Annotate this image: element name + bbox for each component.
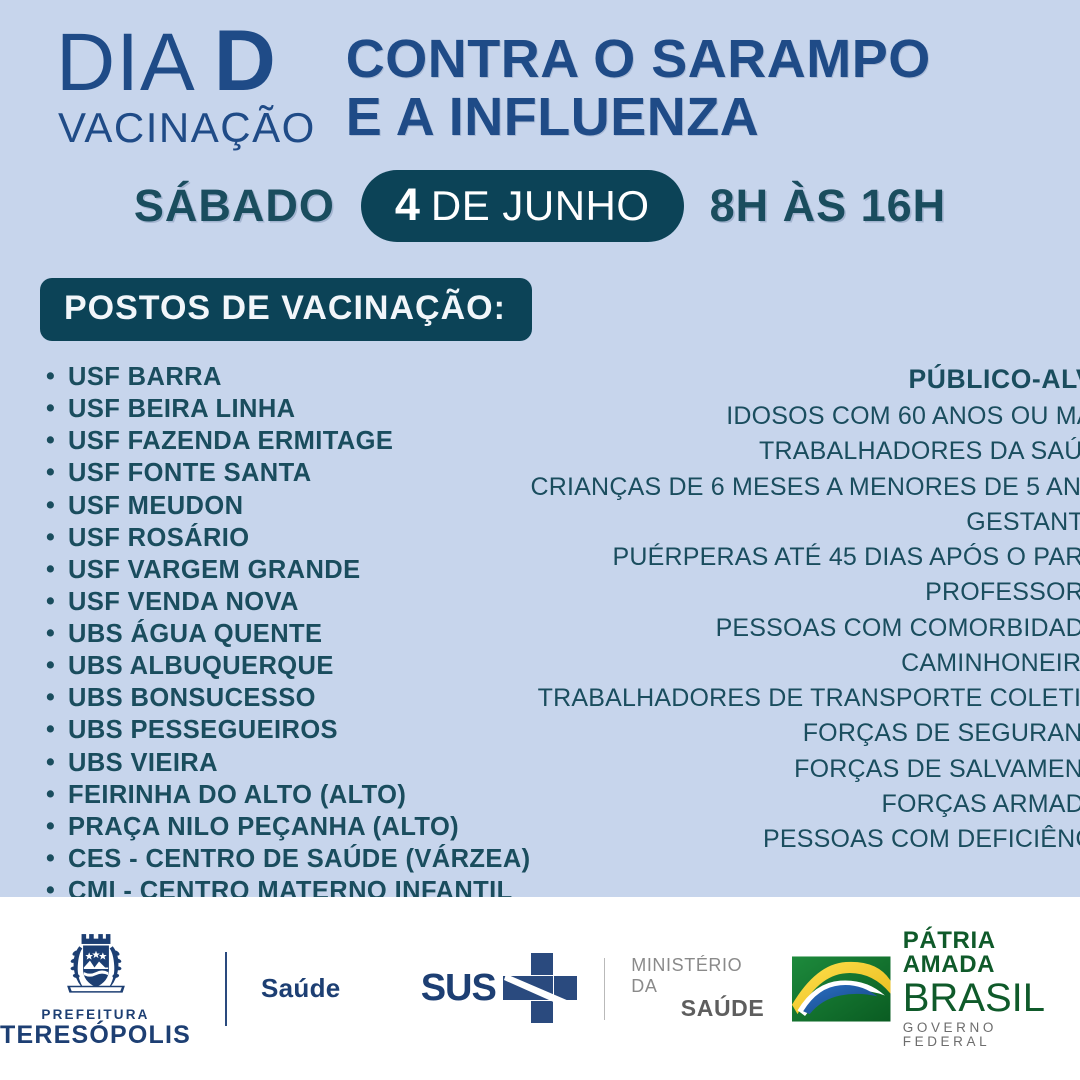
hours-label: 8H ÀS 16H xyxy=(710,180,947,232)
brazil-flag-icon xyxy=(792,954,890,1024)
ministerio-saude-logo: MINISTÉRIO DA SAÚDE xyxy=(631,955,764,1021)
date-strip: SÁBADO 4 DE JUNHO 8H ÀS 16H xyxy=(0,170,1080,242)
coat-of-arms-icon xyxy=(58,928,134,1004)
vaccination-campaign-poster: DIA D VACINAÇÃO CONTRA O SARAMPO E A INF… xyxy=(0,0,1080,1080)
list-item: USF FONTE SANTA xyxy=(46,457,531,489)
list-item: GESTANTES; xyxy=(531,505,1080,540)
dia-d-line: DIA D xyxy=(56,22,276,102)
poster-header: DIA D VACINAÇÃO CONTRA O SARAMPO E A INF… xyxy=(0,0,1080,278)
list-item: FORÇAS DE SEGURANÇA; xyxy=(531,716,1080,751)
prefeitura-line-2: TERESÓPOLIS xyxy=(0,1022,191,1048)
vacinacao-text: VACINAÇÃO xyxy=(58,104,316,152)
poster-body: POSTOS DE VACINAÇÃO: USF BARRA USF BEIRA… xyxy=(0,278,1080,898)
vaccination-posts-list: USF BARRA USF BEIRA LINHA USF FAZENDA ER… xyxy=(0,361,531,907)
brasil-line-2: BRASIL xyxy=(903,978,1080,1018)
ministerio-line-2: SAÚDE xyxy=(681,996,765,1022)
list-item: USF FAZENDA ERMITAGE xyxy=(46,425,531,457)
list-item: CES - CENTRO DE SAÚDE (VÁRZEA) xyxy=(46,843,531,875)
list-item: UBS BONSUCESSO xyxy=(46,682,531,714)
list-item: UBS VIEIRA xyxy=(46,747,531,779)
target-audience-column: PÚBLICO-ALVO: IDOSOS COM 60 ANOS OU MAIS… xyxy=(531,361,1080,907)
date-pill: 4 DE JUNHO xyxy=(361,170,684,242)
list-item: USF VENDA NOVA xyxy=(46,586,531,618)
list-item: TRABALHADORES DE TRANSPORTE COLETIVO; xyxy=(531,681,1080,716)
list-item: PRAÇA NILO PEÇANHA (ALTO) xyxy=(46,811,531,843)
list-item: UBS ÁGUA QUENTE xyxy=(46,618,531,650)
secretaria-saude-label: Saúde xyxy=(261,973,341,1004)
list-item: CAMINHONEIROS; xyxy=(531,646,1080,681)
dia-d-logo: DIA D VACINAÇÃO xyxy=(56,18,316,152)
weekday-label: SÁBADO xyxy=(134,180,335,232)
target-audience-list: IDOSOS COM 60 ANOS OU MAIS; TRABALHADORE… xyxy=(531,399,1080,857)
brasil-line-1: PÁTRIA AMADA xyxy=(903,929,1080,977)
footer-divider-2 xyxy=(604,958,605,1020)
list-item: USF MEUDON xyxy=(46,490,531,522)
headline-line-2: E A INFLUENZA xyxy=(346,88,931,146)
list-item: FORÇAS DE SALVAMENTO; xyxy=(531,752,1080,787)
sus-label: SUS xyxy=(421,967,496,1010)
list-item: USF BARRA xyxy=(46,361,531,393)
list-item: UBS ALBUQUERQUE xyxy=(46,650,531,682)
d-letter: D xyxy=(214,22,276,102)
list-item: PESSOAS COM DEFICIÊNCIA. xyxy=(531,822,1080,857)
list-item: USF VARGEM GRANDE xyxy=(46,554,531,586)
list-item: PESSOAS COM COMORBIDADES; xyxy=(531,611,1080,646)
sus-cross-icon xyxy=(502,952,578,1026)
month-label: DE JUNHO xyxy=(431,182,650,230)
dia-text: DIA xyxy=(56,25,196,101)
list-item: IDOSOS COM 60 ANOS OU MAIS; xyxy=(531,399,1080,434)
governo-federal-logo: PÁTRIA AMADA BRASIL GOVERNO FEDERAL xyxy=(792,929,1080,1048)
poster-footer: PREFEITURA TERESÓPOLIS Saúde SUS xyxy=(0,897,1080,1080)
list-item: USF BEIRA LINHA xyxy=(46,393,531,425)
prefeitura-logo: PREFEITURA TERESÓPOLIS Saúde xyxy=(0,928,341,1048)
ministerio-line-1: MINISTÉRIO DA xyxy=(631,955,764,995)
list-item: PUÉRPERAS ATÉ 45 DIAS APÓS O PARTO; xyxy=(531,540,1080,575)
target-audience-title: PÚBLICO-ALVO: xyxy=(531,364,1080,395)
postos-badge-label: POSTOS DE VACINAÇÃO: xyxy=(64,289,506,327)
list-item: FEIRINHA DO ALTO (ALTO) xyxy=(46,779,531,811)
list-item: CRIANÇAS DE 6 MESES A MENORES DE 5 ANOS; xyxy=(531,470,1080,505)
day-number: 4 xyxy=(395,179,420,231)
title-row: DIA D VACINAÇÃO CONTRA O SARAMPO E A INF… xyxy=(0,18,1080,152)
sus-logo: SUS xyxy=(421,952,578,1026)
content-columns: USF BARRA USF BEIRA LINHA USF FAZENDA ER… xyxy=(0,361,1080,907)
list-item: USF ROSÁRIO xyxy=(46,522,531,554)
footer-divider-1 xyxy=(225,952,227,1026)
list-item: FORÇAS ARMADAS; xyxy=(531,787,1080,822)
list-item: PROFESSORES; xyxy=(531,575,1080,610)
list-item: UBS PESSEGUEIROS xyxy=(46,714,531,746)
headline-line-1: CONTRA O SARAMPO xyxy=(346,30,931,88)
brasil-line-3: GOVERNO FEDERAL xyxy=(903,1021,1080,1048)
campaign-headline: CONTRA O SARAMPO E A INFLUENZA xyxy=(346,18,931,147)
postos-badge: POSTOS DE VACINAÇÃO: xyxy=(40,278,532,341)
list-item: TRABALHADORES DA SAÚDE; xyxy=(531,434,1080,469)
